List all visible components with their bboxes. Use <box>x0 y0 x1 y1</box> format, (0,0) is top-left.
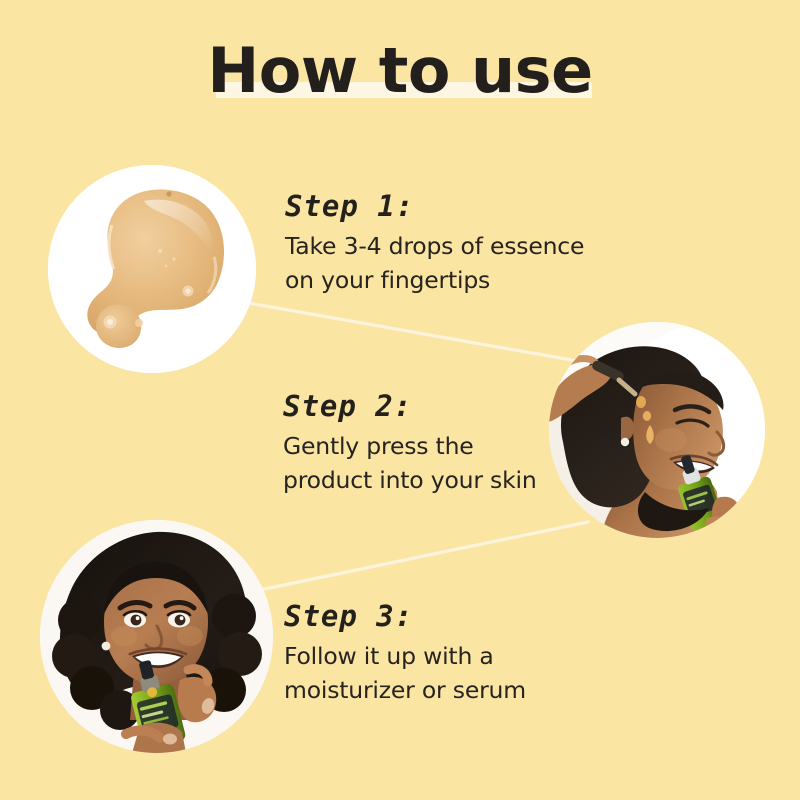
step-3-body: Follow it up with a moisturizer or serum <box>284 640 574 707</box>
step-2-text-block: Step 2: Gently press the product into yo… <box>283 388 583 497</box>
holding-bottle-photo <box>40 520 273 753</box>
step-2-body-line-2: product into your skin <box>283 464 583 497</box>
step-1-body: Take 3-4 drops of essence on your finger… <box>285 230 595 297</box>
step-2-body-line-1: Gently press the <box>283 430 583 463</box>
step-1-label: Step 1: <box>285 188 595 224</box>
step-3-body-line-2: moisturizer or serum <box>284 674 574 707</box>
step-1-text-block: Step 1: Take 3-4 drops of essence on you… <box>285 188 595 297</box>
step-3-text-block: Step 3: Follow it up with a moisturizer … <box>284 598 574 707</box>
how-to-use-infographic: How to use <box>0 0 800 800</box>
step-3-body-line-1: Follow it up with a <box>284 640 574 673</box>
step-1-body-line-2: on your fingertips <box>285 264 595 297</box>
page-title: How to use <box>0 38 800 103</box>
connector-step1-to-step2 <box>243 302 628 370</box>
step-3-label: Step 3: <box>284 598 574 634</box>
serum-droplet-photo <box>48 165 256 373</box>
step-2-label: Step 2: <box>283 388 583 424</box>
step-2-body: Gently press the product into your skin <box>283 430 583 497</box>
connector-step2-to-step3 <box>255 522 588 591</box>
step-1-body-line-1: Take 3-4 drops of essence <box>285 230 595 263</box>
